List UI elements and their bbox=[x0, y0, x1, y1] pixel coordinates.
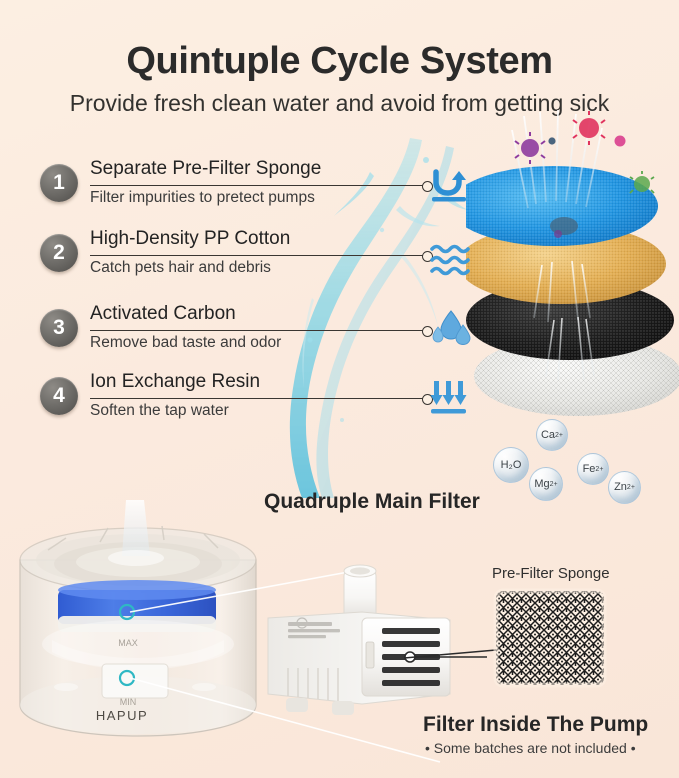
ion-label: Mg bbox=[534, 479, 549, 490]
feature-connector-line bbox=[90, 330, 426, 331]
infographic-page: Quintuple Cycle System Provide fresh cle… bbox=[0, 0, 679, 778]
feature-title: Ion Exchange Resin bbox=[90, 371, 260, 393]
feature-description: Soften the tap water bbox=[90, 402, 229, 420]
ion-charge: 2+ bbox=[550, 481, 558, 488]
ion-label: Ca bbox=[541, 430, 555, 441]
feature-item-4: 4 Ion Exchange Resin Soften the tap wate… bbox=[40, 371, 430, 429]
filter-inside-pump-caption: Filter Inside The Pump bbox=[423, 713, 648, 737]
feature-connector-line bbox=[90, 255, 426, 256]
feature-number-badge: 2 bbox=[40, 234, 78, 272]
feature-title: High-Density PP Cotton bbox=[90, 228, 290, 250]
water-droplets-icon bbox=[430, 307, 476, 347]
feature-item-3: 3 Activated Carbon Remove bad taste and … bbox=[40, 303, 430, 361]
feature-description: Catch pets hair and debris bbox=[90, 259, 271, 277]
ion-charge: 2+ bbox=[627, 484, 635, 491]
ion-label: Fe bbox=[583, 464, 596, 475]
ion-charge: 2+ bbox=[555, 432, 563, 439]
ion-bubble-h2o: H₂O bbox=[493, 447, 529, 483]
feature-number-badge: 4 bbox=[40, 377, 78, 415]
pre-filter-sponge-caption: Pre-Filter Sponge bbox=[492, 565, 610, 582]
wavy-lines-icon bbox=[428, 240, 474, 280]
ion-bubble-ca: Ca2+ bbox=[536, 419, 568, 451]
ion-label: Zn bbox=[614, 482, 627, 493]
ion-charge: 2+ bbox=[595, 466, 603, 473]
pump-note: • Some batches are not included • bbox=[425, 740, 636, 756]
ion-bubble-mg: Mg2+ bbox=[529, 467, 563, 501]
u-turn-arrow-icon bbox=[428, 166, 474, 206]
feature-item-1: 1 Separate Pre-Filter Sponge Filter impu… bbox=[40, 158, 430, 216]
feature-connector-line bbox=[90, 185, 426, 186]
feature-title: Separate Pre-Filter Sponge bbox=[90, 158, 321, 180]
pre-filter-sponge-image bbox=[490, 585, 610, 690]
filter-layer-stack bbox=[466, 108, 679, 438]
down-arrows-icon bbox=[427, 378, 473, 418]
feature-number-badge: 3 bbox=[40, 309, 78, 347]
ion-label: H₂O bbox=[501, 460, 522, 471]
feature-item-2: 2 High-Density PP Cotton Catch pets hair… bbox=[40, 228, 430, 286]
feature-number-badge: 1 bbox=[40, 164, 78, 202]
feature-connector-line bbox=[90, 398, 426, 399]
page-title: Quintuple Cycle System bbox=[0, 40, 679, 83]
ion-bubble-zn: Zn2+ bbox=[608, 471, 641, 504]
quadruple-main-filter-caption: Quadruple Main Filter bbox=[264, 490, 480, 514]
feature-description: Remove bad taste and odor bbox=[90, 334, 281, 352]
feature-title: Activated Carbon bbox=[90, 303, 236, 325]
feature-description: Filter impurities to pretect pumps bbox=[90, 189, 315, 207]
ion-bubble-fe: Fe2+ bbox=[577, 453, 609, 485]
